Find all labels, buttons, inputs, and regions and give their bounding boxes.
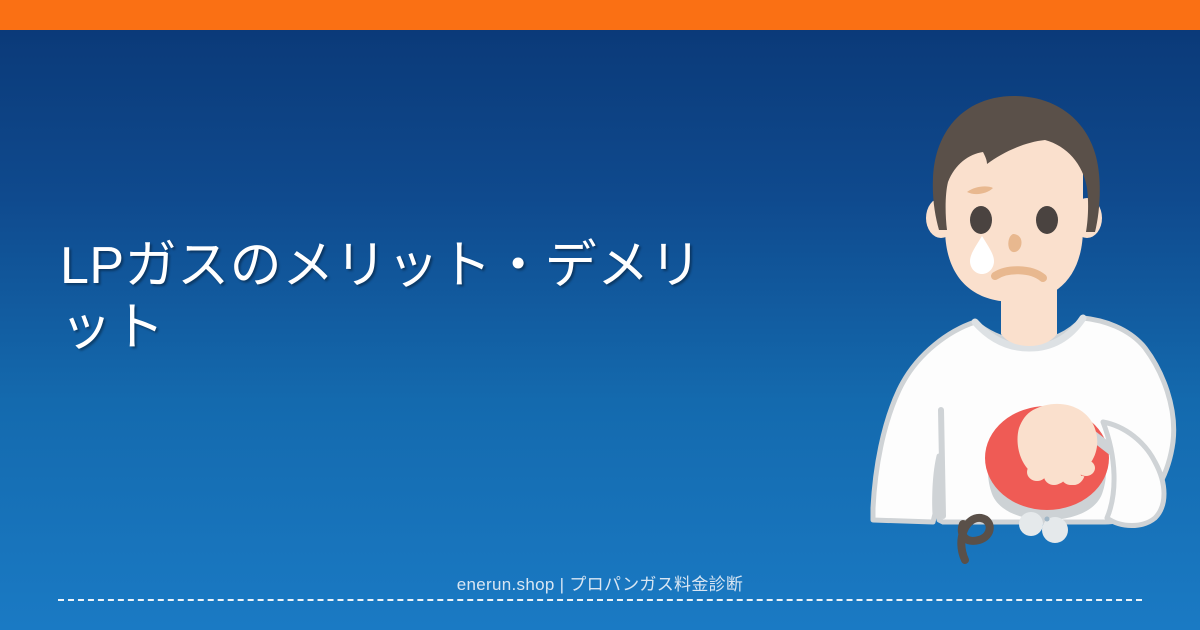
finger-1 — [1027, 463, 1047, 481]
footer-divider — [58, 599, 1142, 601]
gradient-stage: LPガスのメリット・デメリット enerun.shop | プロパンガス料金診断 — [0, 30, 1200, 630]
right-eye — [1036, 206, 1058, 234]
footer-text: enerun.shop | プロパンガス料金診断 — [457, 570, 743, 595]
purse-clasp-knob-left — [1019, 512, 1043, 536]
left-eye — [970, 206, 992, 234]
page-title-text: LPガスのメリット・デメリット — [60, 235, 740, 359]
purse-clasp-dot — [1045, 517, 1050, 522]
thumbnail-canvas: LPガスのメリット・デメリット enerun.shop | プロパンガス料金診断 — [0, 0, 1200, 630]
finger-4 — [1077, 460, 1095, 476]
page-title: LPガスのメリット・デメリット — [60, 235, 740, 359]
footer: enerun.shop | プロパンガス料金診断 — [0, 570, 1200, 595]
shirt-fold-line — [941, 410, 943, 516]
worried-boy-illustration — [855, 90, 1195, 570]
top-accent-bar — [0, 0, 1200, 30]
